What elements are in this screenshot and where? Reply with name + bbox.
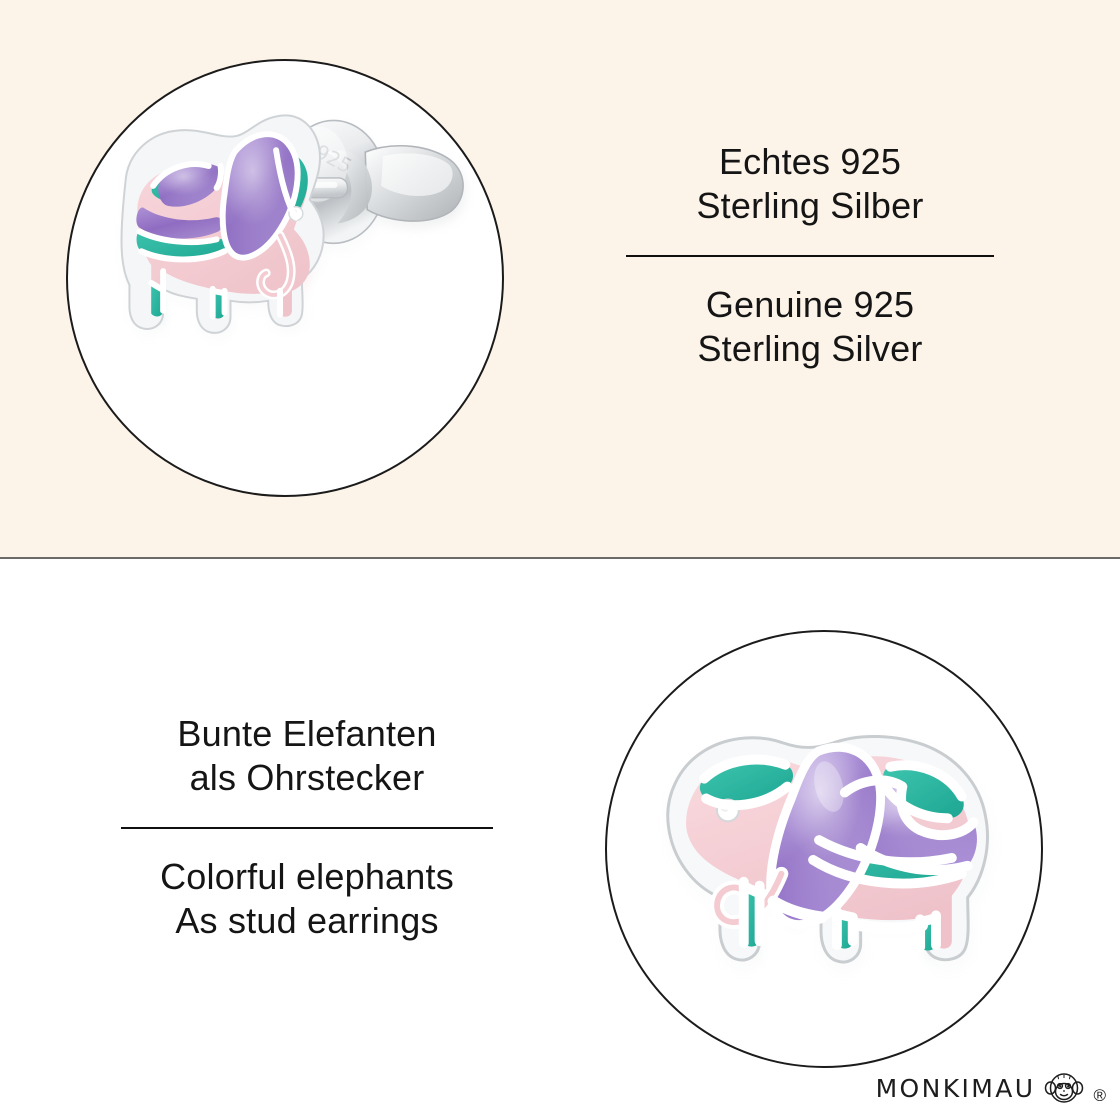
elephant-stud-earring-with-butterfly-back: 925 925 bbox=[68, 61, 502, 495]
elephant-enamel-charm-top bbox=[122, 115, 324, 332]
elephant-enamel-charm-bottom bbox=[668, 736, 988, 962]
product-circle-top: 925 925 bbox=[66, 59, 504, 497]
top-text-rule bbox=[626, 255, 994, 257]
bottom-text-line-1: Bunte Elefanten bbox=[112, 712, 502, 756]
product-circle-bottom bbox=[605, 630, 1043, 1068]
bottom-text-rule bbox=[121, 827, 493, 829]
top-text-line-4: Sterling Silver bbox=[610, 327, 1010, 371]
bottom-text-block: Bunte Elefanten als Ohrstecker Colorful … bbox=[112, 712, 502, 943]
top-text-line-2: Sterling Silber bbox=[610, 184, 1010, 228]
top-text-block: Echtes 925 Sterling Silber Genuine 925 S… bbox=[610, 140, 1010, 371]
top-text-line-3: Genuine 925 bbox=[610, 283, 1010, 327]
bottom-text-line-4: As stud earrings bbox=[112, 899, 502, 943]
elephant-stud-earring-closeup bbox=[607, 632, 1041, 1066]
top-text-line-1: Echtes 925 bbox=[610, 140, 1010, 184]
registered-trademark-icon: ® bbox=[1093, 1087, 1106, 1104]
bottom-text-line-2: als Ohrstecker bbox=[112, 756, 502, 800]
monkey-face-icon bbox=[1044, 1070, 1084, 1106]
bottom-text-line-3: Colorful elephants bbox=[112, 855, 502, 899]
panel-divider bbox=[0, 557, 1120, 559]
brand-logo: MONKIMAU ® bbox=[876, 1070, 1106, 1106]
infographic-page: 925 925 bbox=[0, 0, 1120, 1120]
brand-wordmark: MONKIMAU bbox=[876, 1074, 1036, 1103]
